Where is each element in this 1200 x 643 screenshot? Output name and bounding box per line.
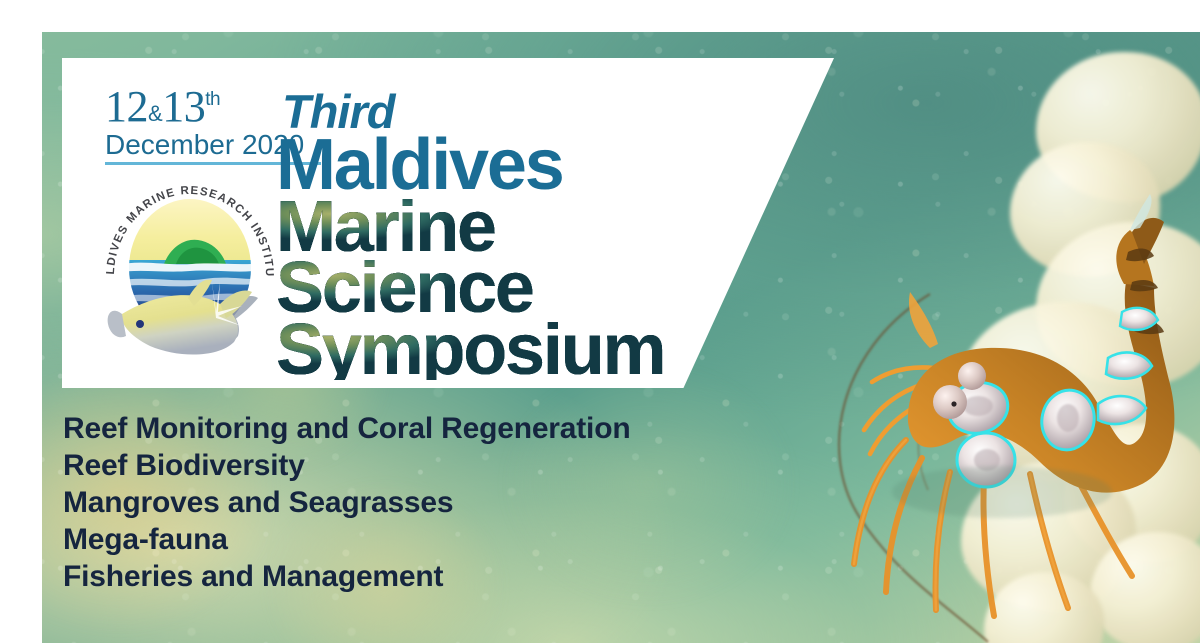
topic-list: Reef Monitoring and Coral Regeneration R…	[63, 410, 723, 595]
mmri-logo: MALDIVES MARINE RESEARCH INSTITUTE	[92, 164, 288, 364]
date-ampersand: &	[148, 101, 162, 126]
topic-item: Fisheries and Management	[63, 558, 723, 595]
topic-item: Mega-fauna	[63, 521, 723, 558]
date-day-second: 13	[162, 82, 205, 131]
title-line-symposium: Symposium	[276, 322, 664, 380]
topic-item: Reef Monitoring and Coral Regeneration	[63, 410, 723, 447]
symposium-title: Third Maldives Marine Science Symposium	[276, 90, 664, 380]
topic-item: Reef Biodiversity	[63, 447, 723, 484]
date-day-first: 12	[105, 82, 148, 131]
anemone-shrimp-photo	[802, 172, 1200, 643]
date-ordinal-suffix: th	[205, 89, 220, 110]
poster-root: 12&13th December 2020	[0, 0, 1200, 643]
topic-item: Mangroves and Seagrasses	[63, 484, 723, 521]
